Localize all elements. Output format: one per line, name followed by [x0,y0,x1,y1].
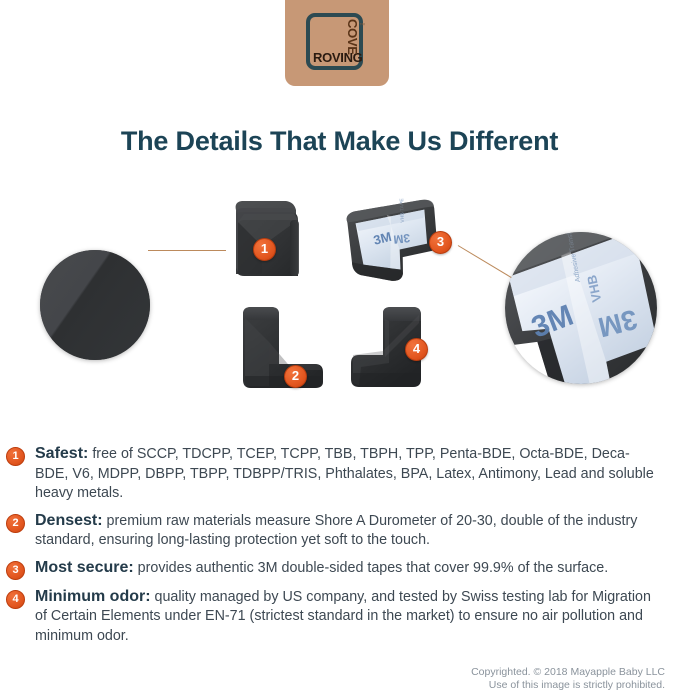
feature-label-1: Safest: [35,445,88,462]
connector-line-left [148,250,226,251]
zoom-circle-tape: 3M 3M VHB Adhesive Transfer [505,232,657,384]
feature-badge-1: 1 [6,447,25,466]
feature-body-4: Minimum odor: quality managed by US comp… [35,587,659,647]
feature-description-1: free of SCCP, TDCPP, TCEP, TCPP, TBB, TB… [35,446,654,501]
svg-text:3M: 3M [393,231,411,247]
feature-item-3: 3 Most secure: provides authentic 3M dou… [0,558,679,580]
feature-item-4: 4 Minimum odor: quality managed by US co… [0,587,679,647]
feature-badge-3: 3 [6,561,25,580]
copyright-notice: Copyrighted. © 2018 Mayapple Baby LLC Us… [471,666,665,692]
feature-label-2: Densest: [35,512,103,529]
copyright-line-1: Copyrighted. © 2018 Mayapple Baby LLC [471,666,665,679]
product-badge-2: 2 [284,365,307,388]
brand-logo: ROVING COVE ™ [285,0,389,86]
feature-badge-2: 2 [6,514,25,533]
feature-body-3: Most secure: provides authentic 3M doubl… [35,558,608,579]
page-title: The Details That Make Us Different [0,126,679,157]
feature-description-2: premium raw materials measure Shore A Du… [35,513,637,549]
feature-body-2: Densest: premium raw materials measure S… [35,511,659,551]
zoom-circle-foam [40,250,150,360]
product-badge-3: 3 [429,231,452,254]
logo-word-vertical: COVE [346,19,359,55]
feature-body-1: Safest: free of SCCP, TDCPP, TCEP, TCPP,… [35,444,659,504]
feature-label-4: Minimum odor: [35,588,151,605]
feature-badge-4: 4 [6,590,25,609]
feature-list: 1 Safest: free of SCCP, TDCPP, TCEP, TCP… [0,444,679,653]
corner-guard-2 [231,298,327,394]
feature-item-2: 2 Densest: premium raw materials measure… [0,511,679,551]
logo-frame: ROVING COVE ™ [306,13,363,70]
product-badge-4: 4 [405,338,428,361]
feature-description-3: provides authentic 3M double-sided tapes… [134,560,608,576]
feature-item-1: 1 Safest: free of SCCP, TDCPP, TCEP, TCP… [0,444,679,504]
product-showcase: 1 2 [0,170,679,420]
feature-label-3: Most secure: [35,559,134,576]
product-badge-1: 1 [253,238,276,261]
tape-surface-detail: 3M 3M VHB Adhesive Transfer [505,232,657,384]
trademark-icon: ™ [359,23,365,29]
copyright-line-2: Use of this image is strictly prohibited… [471,679,665,692]
foam-surface-detail [40,250,150,360]
